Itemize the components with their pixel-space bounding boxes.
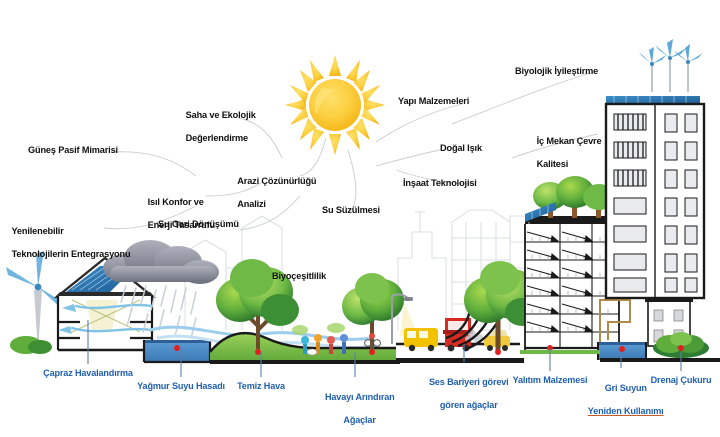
label-saha-ve-ekolojik-degerlendirme: Saha ve Ekolojik Değerlendirme — [176, 99, 256, 156]
marker-dot — [369, 349, 375, 355]
label-biyolojik-iyilestirme: Biyolojik İyileştirme — [515, 66, 598, 77]
label-gunes-pasif-mimarisi: Güneş Pasif Mimarisi — [28, 145, 118, 156]
tower-louvered-windows — [614, 114, 646, 186]
label-insaat-teknolojisi: İnşaat Teknolojisi — [403, 178, 477, 189]
label-line-1: Yenilenebilir — [11, 226, 63, 236]
label-line-1: Havayı Arındıran — [325, 392, 395, 402]
label-line-1: Isıl Konfor ve — [148, 197, 204, 207]
label-yapi-malzemeleri: Yapı Malzemeleri — [398, 96, 469, 107]
rainwater-harvest-pool — [144, 340, 210, 362]
label-line-1: Arazi Çözünürlüğü — [237, 176, 316, 186]
label-biyocesitlilik: Biyoçeşitlilik — [272, 271, 326, 282]
marker-dot — [174, 345, 180, 351]
label-line-2: Kalitesi — [537, 159, 568, 169]
label-line-2: Teknolojilerin Entegrasyonu — [12, 249, 131, 259]
marker-dot — [619, 346, 625, 352]
label-temiz-hava: Temiz Hava — [237, 381, 285, 392]
label-yalitim-malzemesi: Yalıtım Malzemesi — [513, 375, 588, 386]
label-line-2: Değerlendirme — [186, 133, 248, 143]
label-yenilenebilir-teknolojilerin-entegrasyonu: Yenilenebilir Teknolojilerin Entegrasyon… — [2, 215, 130, 272]
marker-dot — [495, 349, 501, 355]
label-line-2: Ağaçlar — [343, 415, 375, 425]
sun-icon — [285, 55, 385, 155]
label-line-2: Yeniden Kullanımı — [588, 406, 664, 416]
label-arazi-cozunurlugu-analizi: Arazi Çözünürlüğü Analizi — [228, 165, 316, 222]
marker-dot — [678, 345, 684, 351]
label-line-1: Gri Suyun — [605, 383, 647, 393]
infographic-canvas: Güneş Pasif Mimarisi Yenilenebilir Tekno… — [0, 0, 720, 427]
label-ic-mekan-cevre-kalitesi: İç Mekan Çevre Kalitesi — [527, 125, 601, 182]
label-drenaj-cukuru: Drenaj Çukuru — [651, 375, 712, 386]
marker-dot — [255, 349, 261, 355]
label-line-1: Ses Bariyeri görevi — [429, 377, 509, 387]
label-capraz-havalandirma: Çapraz Havalandırma — [43, 368, 133, 379]
label-line-1: Saha ve Ekolojik — [186, 110, 256, 120]
label-line-2: gören ağaçlar — [440, 400, 498, 410]
label-su-geri-donusumu: Su Geri Dönüşümü — [158, 219, 239, 230]
label-ses-bariyeri-gorevi-goren-agaclar: Ses Bariyeri görevi gören ağaçlar — [419, 366, 508, 422]
label-line-2: Analizi — [237, 199, 266, 209]
greywater-tank — [598, 342, 646, 360]
label-isil-konfor-ve-enerji-tasarrufu: Isıl Konfor ve Enerji Tasarrufu — [138, 186, 215, 243]
label-line-1: İç Mekan Çevre — [537, 136, 602, 146]
label-havayi-arindiran-agaclar: Havayı Arındıran Ağaçlar — [315, 381, 394, 437]
label-su-suzulmesi: Su Süzülmesi — [322, 205, 380, 216]
label-yagmur-suyu-hasadi: Yağmur Suyu Hasadı — [137, 381, 225, 392]
label-dogal-isik: Doğal Işık — [440, 143, 482, 154]
